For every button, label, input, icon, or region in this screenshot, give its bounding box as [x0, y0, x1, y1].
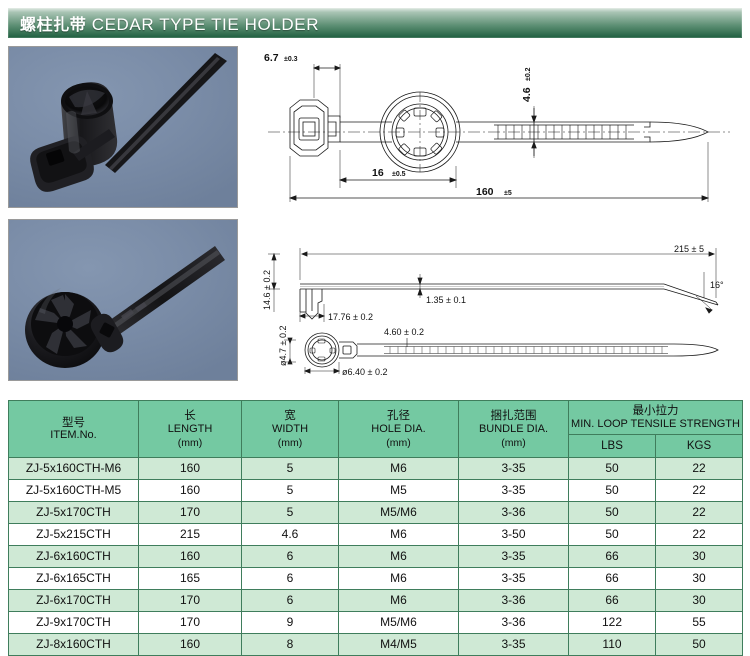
specification-table: 型号 ITEM.No. 长 LENGTH (mm) 宽 WIDTH (mm) 孔… [8, 400, 743, 656]
dim-label-dia-6-40: ø6.40 ± 0.2 [342, 367, 387, 377]
photo-top-artwork [9, 47, 237, 207]
dim-tol-160: ±5 [504, 190, 512, 197]
cell-kgs: 30 [656, 546, 743, 568]
cell-bundle: 3-35 [459, 568, 569, 590]
col-header-width: 宽 WIDTH (mm) [242, 401, 339, 458]
cell-kgs: 30 [656, 590, 743, 612]
table-row: ZJ-9x170CTH1709M5/M63-3612255 [9, 612, 743, 634]
col-header-length-cn: 长 [139, 408, 241, 422]
cell-lbs: 66 [569, 590, 656, 612]
table-header: 型号 ITEM.No. 长 LENGTH (mm) 宽 WIDTH (mm) 孔… [9, 401, 743, 458]
cell-item: ZJ-5x170CTH [9, 502, 139, 524]
col-header-hole-unit: (mm) [339, 437, 458, 450]
cell-item: ZJ-5x160CTH-M5 [9, 480, 139, 502]
col-header-hole-dia: 孔径 HOLE DIA. (mm) [339, 401, 459, 458]
dim-tol-16: ±0.5 [392, 171, 406, 178]
cell-kgs: 55 [656, 612, 743, 634]
col-header-tensile-strength: 最小拉力 MIN. LOOP TENSILE STRENGTH [569, 401, 743, 435]
drawing-bottom-svg: 14.6 ± 0.2 215 ± 5 1.35 ± 0.1 17.76 ± 0.… [244, 212, 744, 380]
cell-bundle: 3-36 [459, 612, 569, 634]
cell-bundle: 3-36 [459, 590, 569, 612]
col-header-tensile-en: MIN. LOOP TENSILE STRENGTH [569, 418, 742, 432]
dim-label-16-degree: 16° [710, 280, 724, 290]
product-photo-bottom [8, 219, 238, 381]
col-header-item-en: ITEM.No. [9, 429, 138, 443]
dim-tol-6-7: ±0.3 [284, 56, 298, 63]
dim-label-160: 160 [476, 186, 494, 198]
page-header-banner: 螺柱扎带 CEDAR TYPE TIE HOLDER [8, 8, 742, 38]
cell-kgs: 22 [656, 524, 743, 546]
cell-lbs: 110 [569, 634, 656, 656]
product-photo-top [8, 46, 238, 208]
col-header-length-en: LENGTH [139, 423, 241, 437]
page-title-english: CEDAR TYPE TIE HOLDER [92, 15, 319, 34]
cell-bundle: 3-36 [459, 502, 569, 524]
cell-kgs: 22 [656, 458, 743, 480]
table-header-row-main: 型号 ITEM.No. 长 LENGTH (mm) 宽 WIDTH (mm) 孔… [9, 401, 743, 435]
cell-width: 6 [242, 590, 339, 612]
table-row: ZJ-8x160CTH1608M4/M53-3511050 [9, 634, 743, 656]
table-row: ZJ-5x160CTH-M51605M53-355022 [9, 480, 743, 502]
col-header-item: 型号 ITEM.No. [9, 401, 139, 458]
cell-lbs: 50 [569, 480, 656, 502]
col-header-lbs: LBS [569, 435, 656, 458]
technical-drawing-top-view: 6.7 ±0.3 16 ±0.5 4.6 ±0.2 160 ±5 [244, 46, 744, 206]
cell-kgs: 50 [656, 634, 743, 656]
col-header-bundle-en: BUNDLE DIA. [459, 423, 568, 437]
cell-item: ZJ-6x160CTH [9, 546, 139, 568]
dim-label-215: 215 ± 5 [674, 244, 704, 254]
cell-hole: M5/M6 [339, 612, 459, 634]
cell-lbs: 50 [569, 524, 656, 546]
cell-length: 160 [139, 634, 242, 656]
dim-label-1-35: 1.35 ± 0.1 [426, 295, 466, 305]
cell-length: 170 [139, 590, 242, 612]
table-row: ZJ-6x160CTH1606M63-356630 [9, 546, 743, 568]
col-header-item-cn: 型号 [9, 415, 138, 429]
cell-hole: M6 [339, 590, 459, 612]
dim-label-4-6: 4.6 [521, 87, 533, 102]
drawing-top-svg: 6.7 ±0.3 16 ±0.5 4.6 ±0.2 160 ±5 [244, 46, 744, 206]
col-header-width-cn: 宽 [242, 408, 338, 422]
cell-length: 165 [139, 568, 242, 590]
cell-lbs: 122 [569, 612, 656, 634]
page-title-chinese: 螺柱扎带 [20, 15, 86, 34]
cell-item: ZJ-6x170CTH [9, 590, 139, 612]
col-header-kgs: KGS [656, 435, 743, 458]
dim-label-17-76: 17.76 ± 0.2 [328, 312, 373, 322]
cell-hole: M6 [339, 568, 459, 590]
cell-length: 170 [139, 612, 242, 634]
cell-width: 9 [242, 612, 339, 634]
col-header-hole-en: HOLE DIA. [339, 423, 458, 437]
cell-kgs: 22 [656, 502, 743, 524]
col-header-bundle-cn: 捆扎范围 [459, 408, 568, 422]
cell-bundle: 3-50 [459, 524, 569, 546]
cell-lbs: 66 [569, 546, 656, 568]
cell-length: 160 [139, 458, 242, 480]
table-row: ZJ-5x215CTH2154.6M63-505022 [9, 524, 743, 546]
cell-width: 8 [242, 634, 339, 656]
cell-item: ZJ-5x160CTH-M6 [9, 458, 139, 480]
cell-hole: M6 [339, 524, 459, 546]
cell-width: 5 [242, 458, 339, 480]
dim-label-16: 16 [372, 167, 384, 179]
cell-item: ZJ-8x160CTH [9, 634, 139, 656]
cell-lbs: 50 [569, 502, 656, 524]
cell-kgs: 30 [656, 568, 743, 590]
col-header-hole-cn: 孔径 [339, 408, 458, 422]
cell-bundle: 3-35 [459, 546, 569, 568]
dim-label-6-7: 6.7 [264, 52, 279, 64]
table-row: ZJ-6x170CTH1706M63-366630 [9, 590, 743, 612]
col-header-length: 长 LENGTH (mm) [139, 401, 242, 458]
cell-width: 5 [242, 502, 339, 524]
col-header-length-unit: (mm) [139, 437, 241, 450]
cell-width: 5 [242, 480, 339, 502]
technical-drawing-side-view: 14.6 ± 0.2 215 ± 5 1.35 ± 0.1 17.76 ± 0.… [244, 212, 744, 380]
col-header-width-unit: (mm) [242, 437, 338, 450]
table-row: ZJ-5x160CTH-M61605M63-355022 [9, 458, 743, 480]
dim-label-dia-4-7: ø4.7 ± 0.2 [278, 326, 288, 366]
col-header-tensile-cn: 最小拉力 [569, 403, 742, 417]
photo-bottom-artwork [9, 220, 237, 380]
dim-label-4-60: 4.60 ± 0.2 [384, 327, 424, 337]
table-row: ZJ-5x170CTH1705M5/M63-365022 [9, 502, 743, 524]
cell-item: ZJ-9x170CTH [9, 612, 139, 634]
cell-hole: M5 [339, 480, 459, 502]
cell-hole: M6 [339, 546, 459, 568]
cell-hole: M4/M5 [339, 634, 459, 656]
cell-length: 160 [139, 480, 242, 502]
cell-bundle: 3-35 [459, 458, 569, 480]
cell-item: ZJ-6x165CTH [9, 568, 139, 590]
cell-lbs: 50 [569, 458, 656, 480]
cell-width: 4.6 [242, 524, 339, 546]
cell-bundle: 3-35 [459, 480, 569, 502]
page-title: 螺柱扎带 CEDAR TYPE TIE HOLDER [20, 11, 319, 35]
cell-item: ZJ-5x215CTH [9, 524, 139, 546]
cell-hole: M5/M6 [339, 502, 459, 524]
cell-lbs: 66 [569, 568, 656, 590]
table-row: ZJ-6x165CTH1656M63-356630 [9, 568, 743, 590]
dim-label-14-6: 14.6 ± 0.2 [262, 270, 272, 310]
dim-tol-4-6: ±0.2 [525, 67, 532, 81]
cell-width: 6 [242, 568, 339, 590]
cell-length: 160 [139, 546, 242, 568]
cell-kgs: 22 [656, 480, 743, 502]
cell-hole: M6 [339, 458, 459, 480]
col-header-bundle-unit: (mm) [459, 437, 568, 450]
col-header-bundle-dia: 捆扎范围 BUNDLE DIA. (mm) [459, 401, 569, 458]
table-body: ZJ-5x160CTH-M61605M63-355022ZJ-5x160CTH-… [9, 458, 743, 656]
col-header-width-en: WIDTH [242, 423, 338, 437]
cell-length: 170 [139, 502, 242, 524]
cell-length: 215 [139, 524, 242, 546]
cell-width: 6 [242, 546, 339, 568]
cell-bundle: 3-35 [459, 634, 569, 656]
